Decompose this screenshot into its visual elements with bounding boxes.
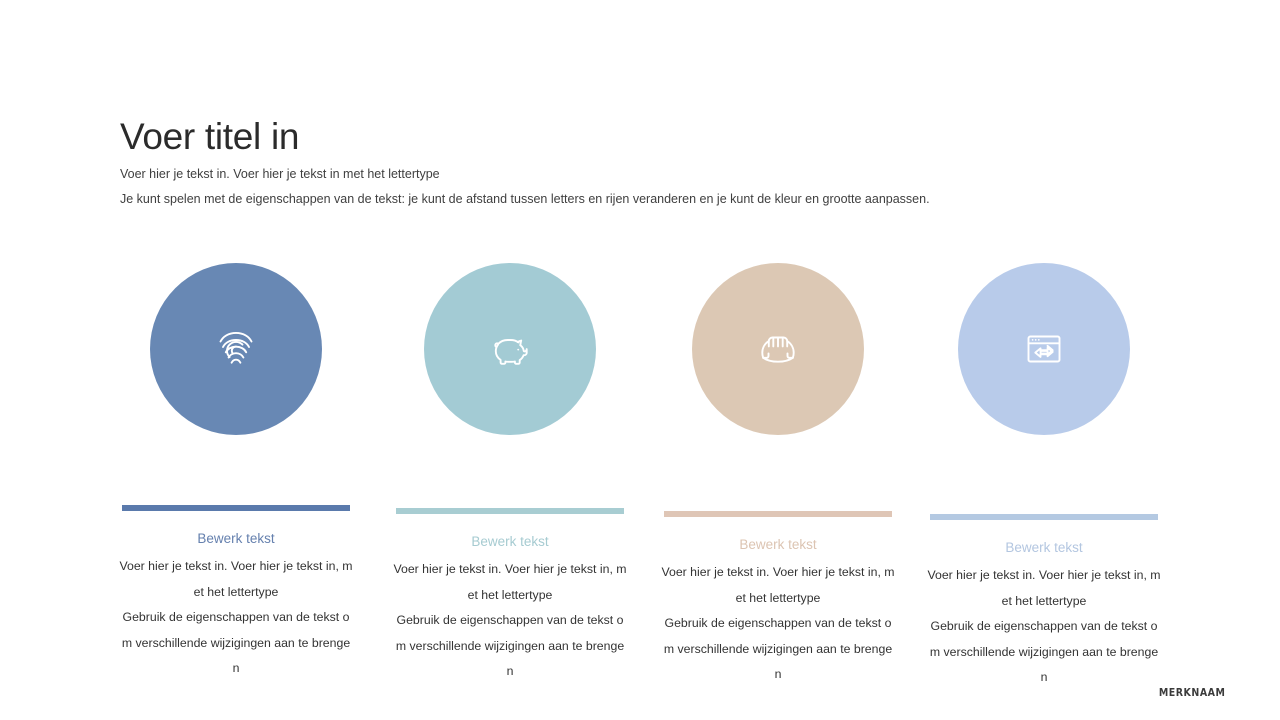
body-line: n — [926, 665, 1162, 691]
body-line: et het lettertype — [392, 583, 628, 609]
card-body-4: Voer hier je tekst in. Voer hier je teks… — [926, 563, 1162, 691]
circle-wrap-3 — [644, 258, 912, 440]
browser-transfer-icon — [1016, 321, 1072, 377]
body-line: m verschillende wijzigingen aan te breng… — [660, 637, 896, 663]
body-line: n — [118, 656, 354, 682]
feature-column-1[interactable]: Bewerk tekst Voer hier je tekst in. Voer… — [102, 258, 370, 682]
body-line: et het lettertype — [660, 586, 896, 612]
feature-column-3[interactable]: Bewerk tekst Voer hier je tekst in. Voer… — [644, 258, 912, 688]
hard-hat-icon — [750, 321, 806, 377]
brand-name: MERKNAAM — [1158, 686, 1225, 699]
body-line: m verschillende wijzigingen aan te breng… — [392, 634, 628, 660]
card-heading-4[interactable]: Bewerk tekst — [910, 540, 1178, 556]
body-line: Voer hier je tekst in. Voer hier je teks… — [392, 557, 628, 583]
body-line: Gebruik de eigenschappen van de tekst o — [118, 605, 354, 631]
icon-circle-1[interactable] — [150, 263, 322, 435]
card-heading-2[interactable]: Bewerk tekst — [376, 534, 644, 550]
body-line: Gebruik de eigenschappen van de tekst o — [392, 608, 628, 634]
card-body-3: Voer hier je tekst in. Voer hier je teks… — [660, 560, 896, 688]
card-heading-3[interactable]: Bewerk tekst — [644, 537, 912, 553]
divider-bar-3 — [664, 511, 892, 517]
feature-column-4[interactable]: Bewerk tekst Voer hier je tekst in. Voer… — [910, 258, 1178, 691]
divider-bar-1 — [122, 505, 350, 511]
circle-wrap-4 — [910, 258, 1178, 440]
icon-circle-4[interactable] — [958, 263, 1130, 435]
icon-circle-2[interactable] — [424, 263, 596, 435]
body-line: n — [660, 662, 896, 688]
fingerprint-icon — [208, 321, 264, 377]
piggy-bank-icon — [482, 321, 538, 377]
body-line: Gebruik de eigenschappen van de tekst o — [926, 614, 1162, 640]
card-body-2: Voer hier je tekst in. Voer hier je teks… — [392, 557, 628, 685]
divider-bar-4 — [930, 514, 1158, 520]
icon-circle-3[interactable] — [692, 263, 864, 435]
body-line: et het lettertype — [118, 580, 354, 606]
circle-wrap-2 — [376, 258, 644, 440]
body-line: Voer hier je tekst in. Voer hier je teks… — [926, 563, 1162, 589]
body-line: m verschillende wijzigingen aan te breng… — [118, 631, 354, 657]
feature-column-2[interactable]: Bewerk tekst Voer hier je tekst in. Voer… — [376, 258, 644, 685]
body-line: et het lettertype — [926, 589, 1162, 615]
feature-columns: Bewerk tekst Voer hier je tekst in. Voer… — [0, 0, 1280, 720]
card-heading-1[interactable]: Bewerk tekst — [102, 531, 370, 547]
body-line: Voer hier je tekst in. Voer hier je teks… — [118, 554, 354, 580]
body-line: n — [392, 659, 628, 685]
circle-wrap-1 — [102, 258, 370, 440]
body-line: m verschillende wijzigingen aan te breng… — [926, 640, 1162, 666]
divider-bar-2 — [396, 508, 624, 514]
card-body-1: Voer hier je tekst in. Voer hier je teks… — [118, 554, 354, 682]
body-line: Voer hier je tekst in. Voer hier je teks… — [660, 560, 896, 586]
body-line: Gebruik de eigenschappen van de tekst o — [660, 611, 896, 637]
